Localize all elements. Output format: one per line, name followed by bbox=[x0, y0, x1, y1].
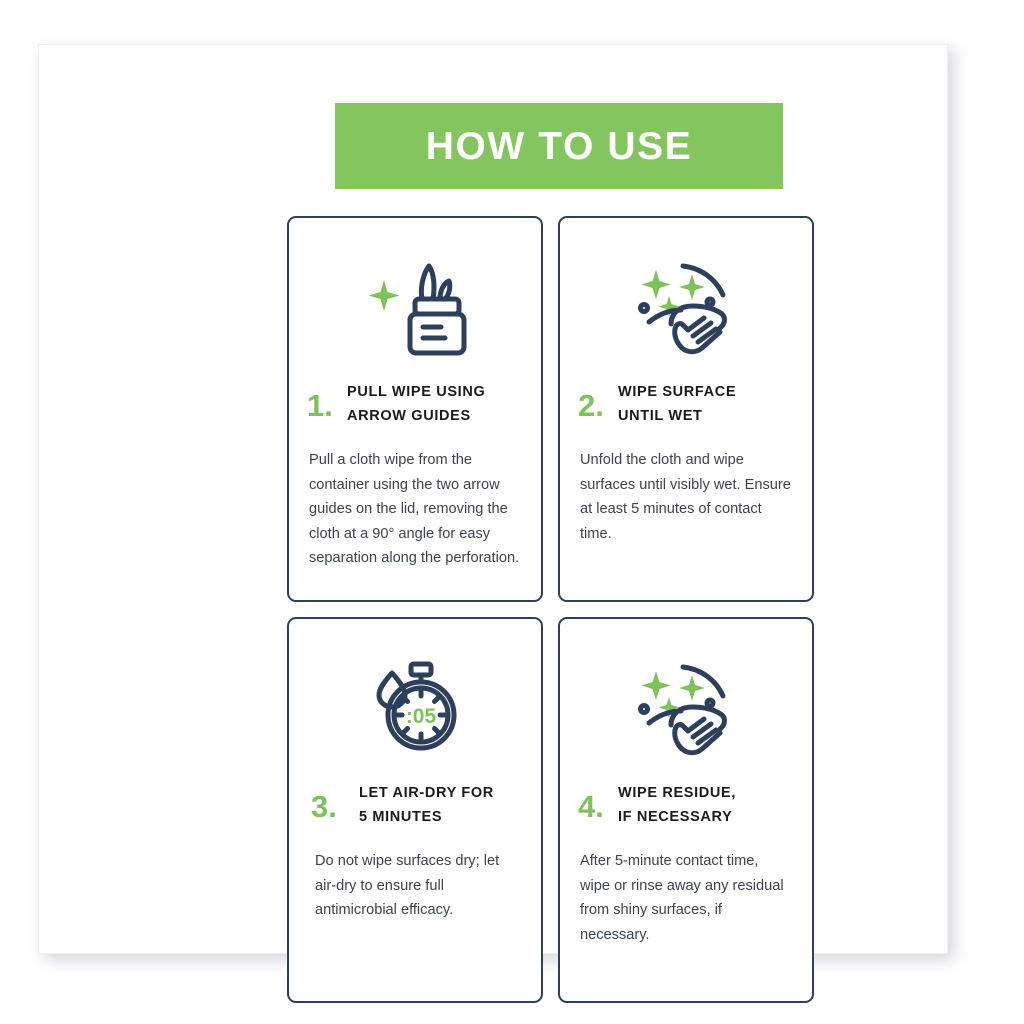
how-to-use-banner: HOW TO USE bbox=[335, 103, 783, 189]
step-title-4-line1: WIPE RESIDUE, bbox=[618, 781, 736, 805]
step-header-4: 4. WIPE RESIDUE, IF NECESSARY bbox=[560, 781, 812, 829]
step-title-2-line2: UNTIL WET bbox=[618, 404, 736, 428]
step-header-1: 1. PULL WIPE USING ARROW GUIDES bbox=[289, 380, 541, 428]
steps-grid: 1. PULL WIPE USING ARROW GUIDES Pull a c… bbox=[287, 216, 815, 1003]
step-title-1-line1: PULL WIPE USING bbox=[347, 380, 485, 404]
step-title-2-line1: WIPE SURFACE bbox=[618, 380, 736, 404]
step-body-2: Unfold the cloth and wipe surfaces until… bbox=[560, 448, 812, 546]
step-header-2: 2. WIPE SURFACE UNTIL WET bbox=[560, 380, 812, 428]
step-body-4: After 5-minute contact time, wipe or rin… bbox=[560, 849, 812, 947]
step-title-3-line1: LET AIR-DRY FOR bbox=[359, 781, 494, 805]
step-card-3: :05 3. LET AIR-DRY FOR 5 MINUTES Do not … bbox=[287, 617, 543, 1003]
step-title-2: WIPE SURFACE UNTIL WET bbox=[618, 380, 736, 428]
step-body-1: Pull a cloth wipe from the container usi… bbox=[289, 448, 541, 571]
step-body-3: Do not wipe surfaces dry; let air-dry to… bbox=[289, 849, 541, 923]
step-card-2: 2. WIPE SURFACE UNTIL WET Unfold the clo… bbox=[558, 216, 814, 602]
page-title: HOW TO USE bbox=[426, 127, 693, 166]
infographic-page: HOW TO USE bbox=[0, 0, 1024, 1024]
step-card-4: 4. WIPE RESIDUE, IF NECESSARY After 5-mi… bbox=[558, 617, 814, 1003]
hand-wiping-sparkle-icon bbox=[560, 645, 812, 765]
content-panel: HOW TO USE bbox=[38, 44, 948, 954]
hand-wiping-sparkle-icon bbox=[560, 244, 812, 364]
step-header-3: 3. LET AIR-DRY FOR 5 MINUTES bbox=[289, 781, 541, 829]
step-title-1: PULL WIPE USING ARROW GUIDES bbox=[347, 380, 485, 428]
step-number-2: 2. bbox=[578, 380, 618, 421]
wipes-container-icon bbox=[289, 244, 541, 364]
step-title-3-line2: 5 MINUTES bbox=[359, 805, 494, 829]
stopwatch-time-label: :05 bbox=[406, 705, 437, 728]
step-title-1-line2: ARROW GUIDES bbox=[347, 404, 485, 428]
step-title-4: WIPE RESIDUE, IF NECESSARY bbox=[618, 781, 736, 829]
step-title-3: LET AIR-DRY FOR 5 MINUTES bbox=[359, 781, 494, 829]
step-number-1: 1. bbox=[307, 380, 347, 421]
step-number-3: 3. bbox=[311, 781, 359, 822]
step-title-4-line2: IF NECESSARY bbox=[618, 805, 736, 829]
step-card-1: 1. PULL WIPE USING ARROW GUIDES Pull a c… bbox=[287, 216, 543, 602]
stopwatch-droplet-icon: :05 bbox=[289, 645, 541, 765]
step-number-4: 4. bbox=[578, 781, 618, 822]
